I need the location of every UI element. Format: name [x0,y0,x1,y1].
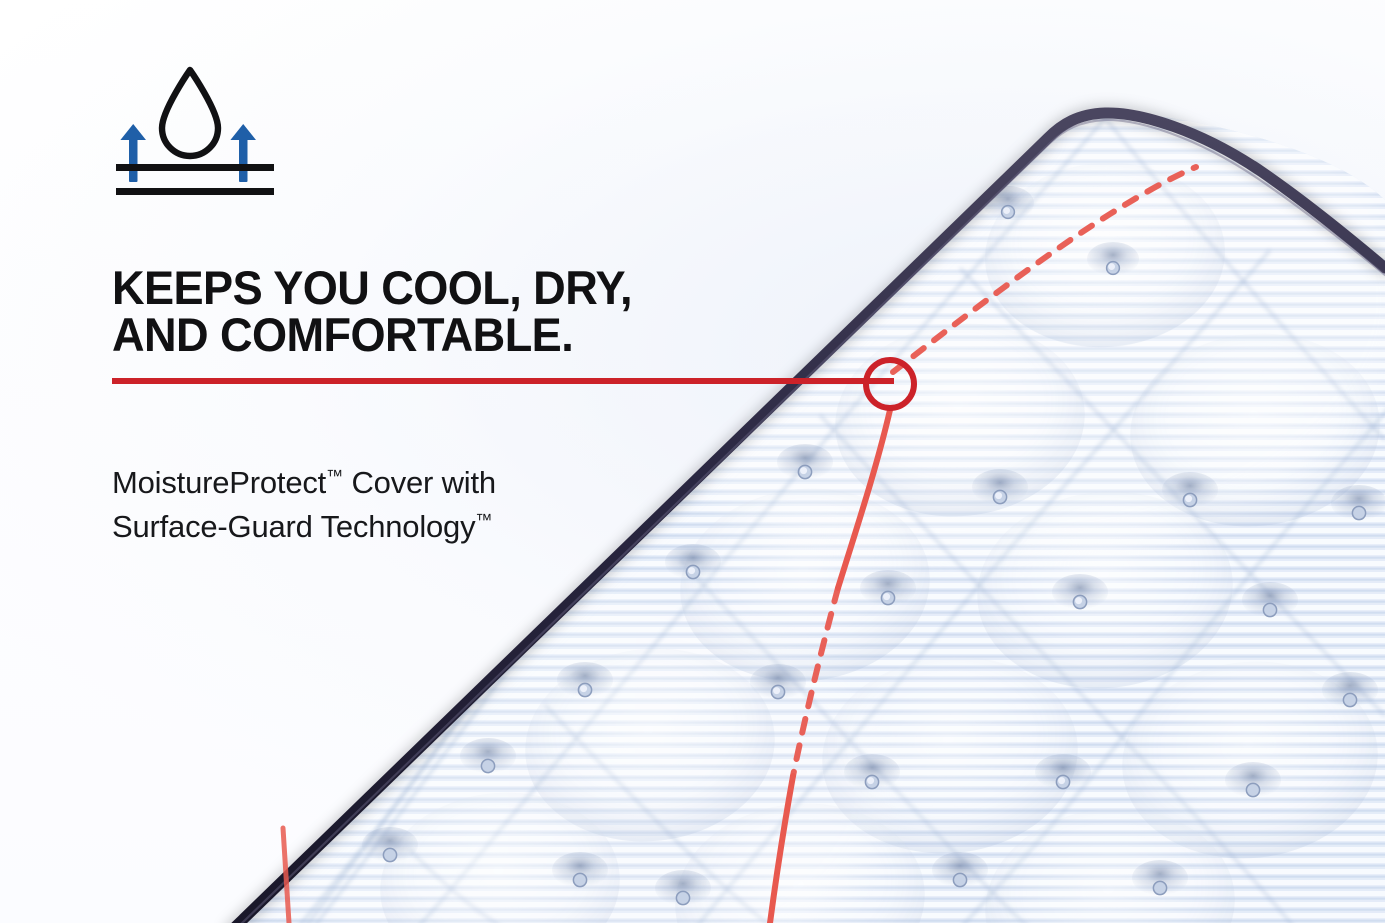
moisture-wicking-icon [112,58,287,203]
page-title: KEEPS YOU COOL, DRY, AND COMFORTABLE. [112,264,746,358]
scene: KEEPS YOU COOL, DRY, AND COMFORTABLE. Mo… [0,0,1385,923]
feature-description: MoistureProtect™ Cover with Surface-Guar… [112,461,672,549]
feature-description-line-2: Surface-Guard Technology™ [112,505,672,549]
callout-marker-circle[interactable] [856,351,924,419]
up-arrow-icon [120,124,146,182]
feature-description-line-1-tail: Cover with [343,465,496,500]
water-droplet-icon [162,70,218,156]
surface-line-bottom-icon [116,188,274,195]
surface-line-top-icon [116,164,274,171]
technology-name: Surface-Guard Technology [112,509,475,544]
trademark-symbol: ™ [475,511,492,530]
trademark-symbol: ™ [326,467,343,486]
red-rule-divider [112,378,894,384]
feature-description-line-1: MoistureProtect™ Cover with [112,461,672,505]
up-arrow-icon [230,124,256,182]
product-name: MoistureProtect [112,465,326,500]
